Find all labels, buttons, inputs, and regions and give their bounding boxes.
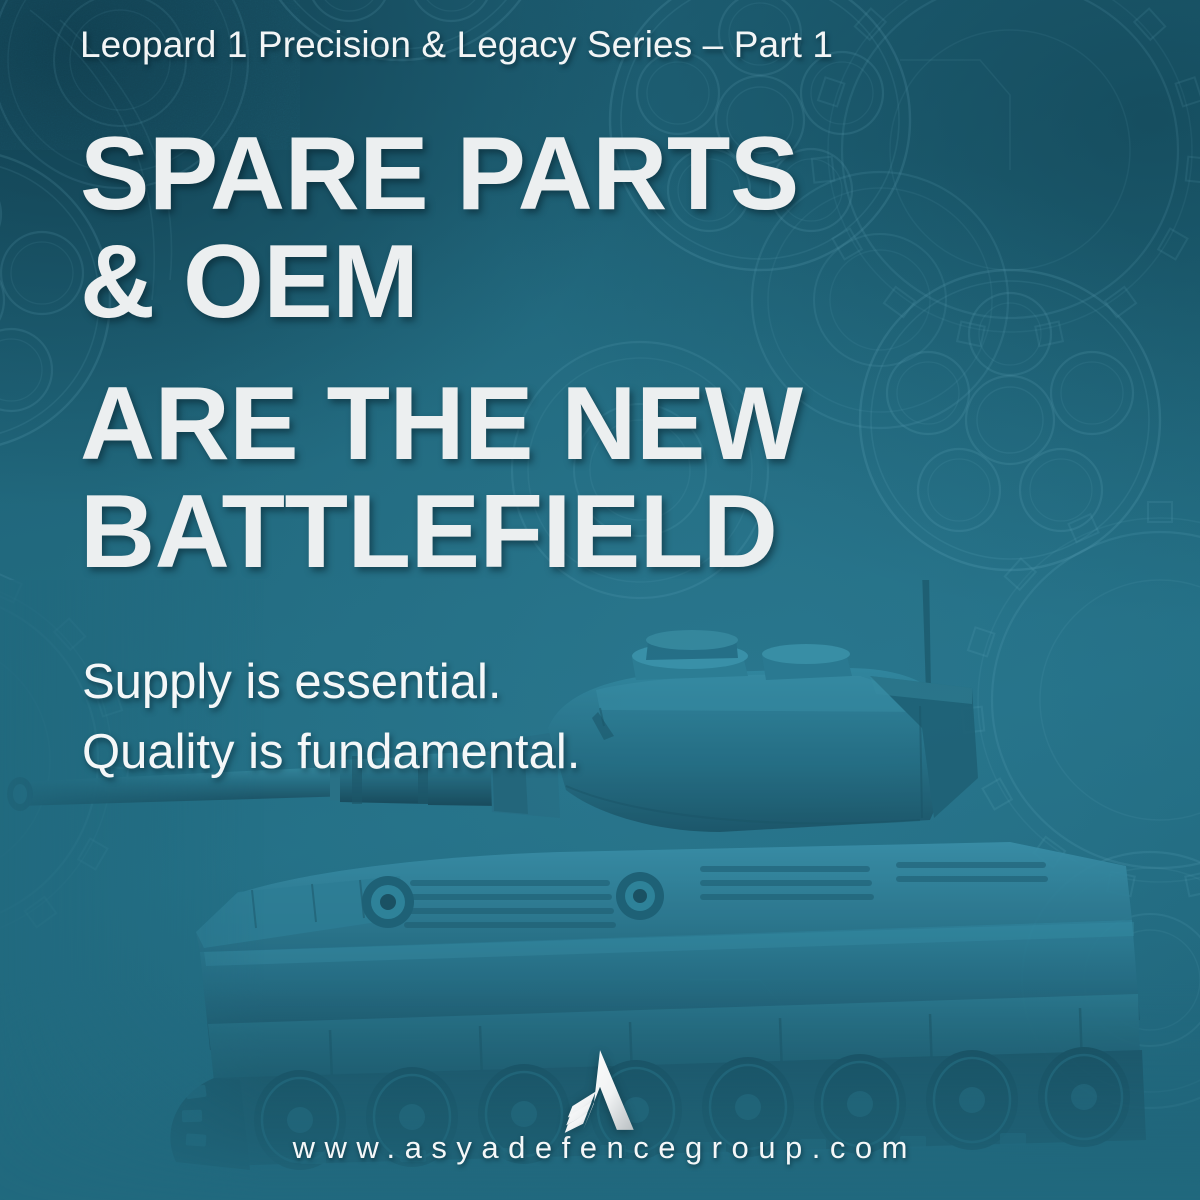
subheadline: Supply is essential. Quality is fundamen…	[82, 648, 882, 787]
asya-defence-group-logo-icon	[554, 1044, 646, 1136]
subheadline-line-1: Supply is essential.	[82, 648, 882, 718]
page-title: SPARE PARTS & OEM ARE THE NEW BATTLEFIEL…	[80, 120, 920, 587]
poster-canvas: Leopard 1 Precision & Legacy Series – Pa…	[0, 0, 1200, 1200]
headline-line-1: SPARE PARTS	[80, 120, 920, 228]
headline-line-4: BATTLEFIELD	[80, 478, 920, 586]
poster-content: Leopard 1 Precision & Legacy Series – Pa…	[0, 0, 1200, 1200]
headline-line-3: ARE THE NEW	[80, 370, 920, 478]
headline-line-2: & OEM	[80, 228, 920, 336]
footer-brand-block: www.asyadefencegroup.com	[0, 1044, 1200, 1166]
subheadline-line-2: Quality is fundamental.	[82, 718, 882, 788]
series-eyebrow-label: Leopard 1 Precision & Legacy Series – Pa…	[80, 24, 833, 66]
